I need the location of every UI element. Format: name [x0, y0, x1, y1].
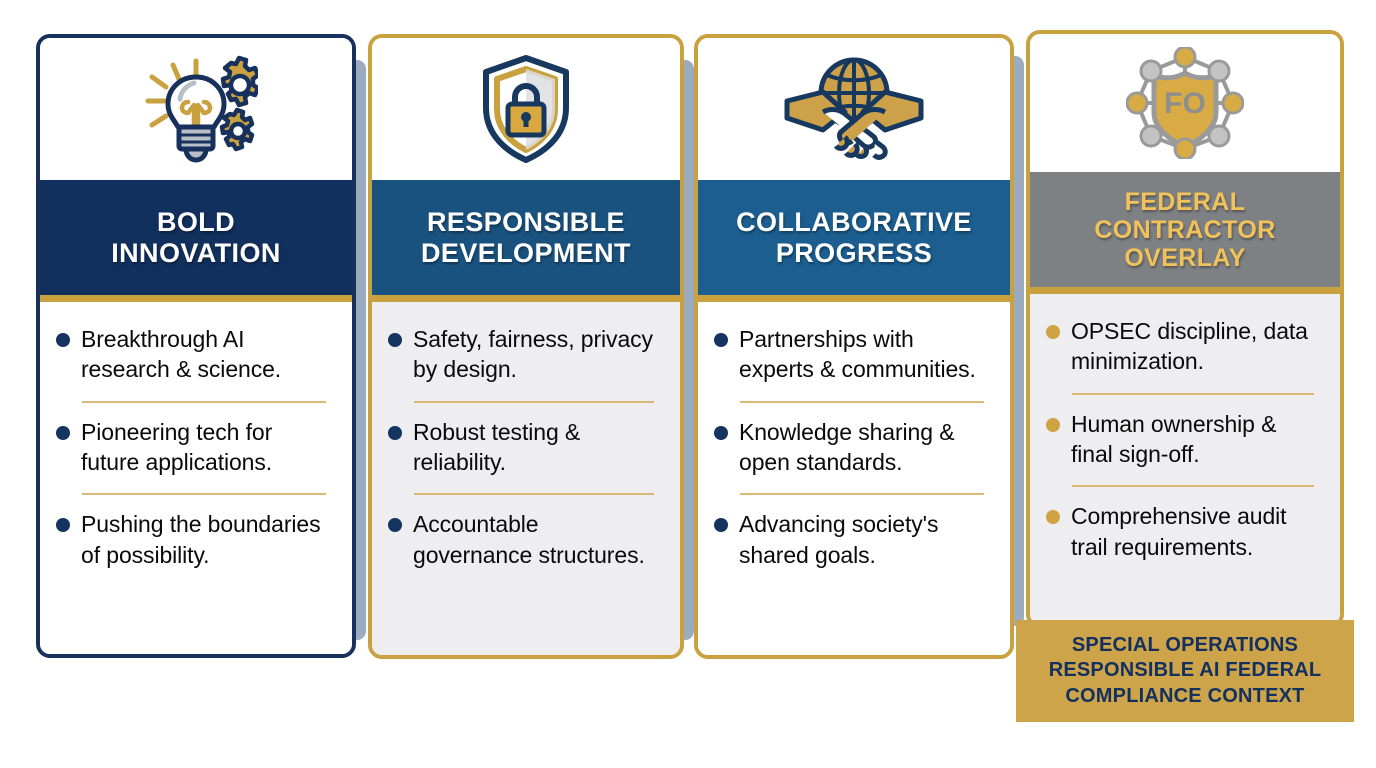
list-item-text: Accountable governance structures.	[413, 509, 662, 570]
card-title-line-2: CONTRACTOR	[1094, 216, 1275, 244]
bullet-dot-icon	[56, 518, 70, 532]
list-item[interactable]: Accountable governance structures.	[388, 509, 662, 572]
globe-handshake-icon	[779, 55, 929, 163]
list-item-text: OPSEC discipline, data minimization.	[1071, 316, 1322, 377]
list-divider	[82, 401, 326, 403]
list-item-text: Human ownership & final sign-off.	[1071, 409, 1322, 470]
card-title-line-1: FEDERAL	[1125, 188, 1246, 216]
bullet-dot-icon	[56, 426, 70, 440]
list-item-text: Pioneering tech for future applications.	[81, 417, 334, 478]
card-bullet-list: Breakthrough AI research & science. Pion…	[40, 302, 352, 654]
banner-line-1: SPECIAL OPERATIONS	[1049, 633, 1322, 659]
lightbulb-gears-icon	[134, 55, 258, 163]
list-divider	[740, 401, 984, 403]
list-divider	[1072, 485, 1314, 487]
card-icon-zone	[372, 38, 680, 180]
list-item[interactable]: Comprehensive audit trail requirements.	[1046, 501, 1322, 564]
card-header-band: COLLABORATIVE PROGRESS	[698, 180, 1010, 302]
card-icon-zone	[698, 38, 1010, 180]
list-item[interactable]: Pioneering tech for future applications.	[56, 417, 334, 480]
list-divider	[414, 401, 654, 403]
list-item[interactable]: Safety, fairness, privacy by design.	[388, 324, 662, 387]
bullet-dot-icon	[56, 333, 70, 347]
compliance-context-banner: SPECIAL OPERATIONS RESPONSIBLE AI FEDERA…	[1016, 620, 1354, 722]
list-divider	[1072, 393, 1314, 395]
card-header-band: BOLD INNOVATION	[40, 180, 352, 302]
card-title-line-2: DEVELOPMENT	[421, 238, 631, 268]
card-title-line-1: BOLD	[157, 207, 235, 237]
list-divider	[414, 493, 654, 495]
bullet-dot-icon	[714, 518, 728, 532]
list-divider	[740, 493, 984, 495]
card-header-band: RESPONSIBLE DEVELOPMENT	[372, 180, 680, 302]
list-item-text: Partnerships with experts & communities.	[739, 324, 992, 385]
list-item[interactable]: Human ownership & final sign-off.	[1046, 409, 1322, 472]
network-badge-fo-icon: FO	[1126, 47, 1244, 159]
shield-lock-icon	[472, 53, 580, 165]
list-item[interactable]: Advancing society's shared goals.	[714, 509, 992, 572]
card-bullet-list: Partnerships with experts & communities.…	[698, 302, 1010, 655]
list-item-text: Knowledge sharing & open standards.	[739, 417, 992, 478]
card-responsible-development[interactable]: RESPONSIBLE DEVELOPMENT Safety, fairness…	[368, 34, 684, 659]
card-federal-contractor-overlay[interactable]: FO FEDERAL CONTRACTOR OVERLAY	[1026, 30, 1344, 628]
bullet-dot-icon	[388, 333, 402, 347]
list-item-text: Advancing society's shared goals.	[739, 509, 992, 570]
bullet-dot-icon	[714, 333, 728, 347]
list-item[interactable]: Robust testing & reliability.	[388, 417, 662, 480]
list-item[interactable]: OPSEC discipline, data minimization.	[1046, 316, 1322, 379]
list-item-text: Safety, fairness, privacy by design.	[413, 324, 662, 385]
card-title-line-2: INNOVATION	[111, 238, 281, 268]
badge-label: FO	[1164, 87, 1206, 120]
bullet-dot-icon	[388, 518, 402, 532]
card-collaborative-progress[interactable]: COLLABORATIVE PROGRESS Partnerships with…	[694, 34, 1014, 659]
card-bullet-list: Safety, fairness, privacy by design. Rob…	[372, 302, 680, 655]
bullet-dot-icon	[714, 426, 728, 440]
card-icon-zone	[40, 38, 352, 180]
card-title-line-2: PROGRESS	[776, 238, 932, 268]
list-item[interactable]: Knowledge sharing & open standards.	[714, 417, 992, 480]
infographic-canvas: BOLD INNOVATION Breakthrough AI research…	[0, 0, 1376, 768]
card-title-line-3: OVERLAY	[1124, 244, 1245, 272]
card-icon-zone: FO	[1030, 34, 1340, 172]
list-item-text: Robust testing & reliability.	[413, 417, 662, 478]
list-item-text: Pushing the boundaries of possibility.	[81, 509, 334, 570]
card-bold-innovation[interactable]: BOLD INNOVATION Breakthrough AI research…	[36, 34, 356, 658]
banner-line-3: COMPLIANCE CONTEXT	[1049, 684, 1322, 710]
card-title-line-1: COLLABORATIVE	[736, 207, 972, 237]
list-item[interactable]: Breakthrough AI research & science.	[56, 324, 334, 387]
bullet-dot-icon	[388, 426, 402, 440]
card-header-band: FEDERAL CONTRACTOR OVERLAY	[1030, 172, 1340, 294]
card-bullet-list: OPSEC discipline, data minimization. Hum…	[1030, 294, 1340, 624]
bullet-dot-icon	[1046, 325, 1060, 339]
list-item-text: Breakthrough AI research & science.	[81, 324, 334, 385]
banner-line-2: RESPONSIBLE AI FEDERAL	[1049, 658, 1322, 684]
card-title-line-1: RESPONSIBLE	[427, 207, 625, 237]
list-divider	[82, 493, 326, 495]
list-item[interactable]: Partnerships with experts & communities.	[714, 324, 992, 387]
list-item-text: Comprehensive audit trail requirements.	[1071, 501, 1322, 562]
bullet-dot-icon	[1046, 510, 1060, 524]
bullet-dot-icon	[1046, 418, 1060, 432]
list-item[interactable]: Pushing the boundaries of possibility.	[56, 509, 334, 572]
